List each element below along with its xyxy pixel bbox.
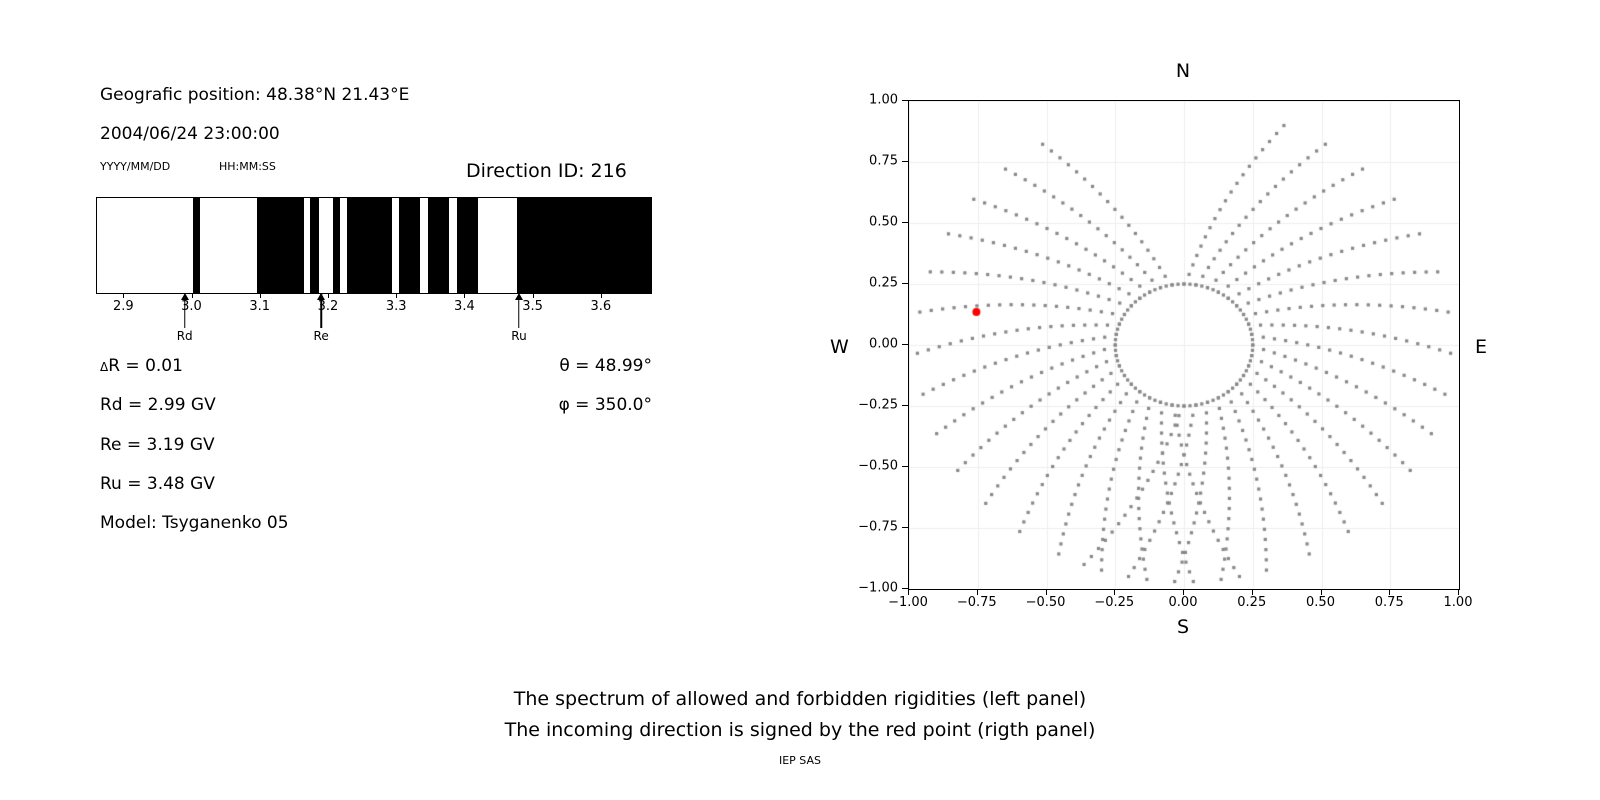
forbidden-band (193, 198, 201, 293)
time-format-hint: HH:MM:SS (219, 161, 276, 172)
y-axis-tick-label: 1.00 (869, 94, 898, 107)
rigidity-spectrum-panel: Geografic position: 48.38°N 21.43°E 2004… (0, 0, 760, 660)
arrow-up-icon (181, 293, 189, 300)
rigidity-marker-label: Rd (177, 330, 193, 342)
direction-id-text: Direction ID: 216 (466, 162, 627, 181)
forbidden-band (257, 198, 304, 293)
x-axis-tick-mark (1114, 589, 1115, 595)
spectrum-bar-container (96, 197, 652, 296)
y-axis-tick-label: 0.25 (869, 277, 898, 290)
x-axis-tick-label: −0.75 (957, 596, 997, 609)
compass-west-label: W (830, 338, 849, 357)
axis-tick (123, 294, 124, 298)
y-axis-tick-label: 0.75 (869, 155, 898, 168)
x-axis-tick-mark (1458, 589, 1459, 595)
x-axis-tick-label: −0.50 (1026, 596, 1066, 609)
x-axis-tick-mark (1321, 589, 1322, 595)
rigidity-marker-label: Re (314, 330, 329, 342)
forbidden-band (517, 198, 652, 293)
delta-symbol: Δ (100, 360, 108, 374)
arrow-up-icon (515, 293, 523, 300)
axis-tick (533, 294, 534, 298)
axis-tick (396, 294, 397, 298)
x-axis-tick-mark (977, 589, 978, 595)
axis-tick-label: 2.9 (113, 300, 134, 313)
y-axis-tick-label: −0.75 (858, 521, 898, 534)
x-axis-tick-mark (1046, 589, 1047, 595)
param-delta-r-value: R = 0.01 (108, 356, 183, 376)
param-phi: φ = 350.0° (559, 397, 652, 414)
y-axis-tick-label: −0.50 (858, 460, 898, 473)
x-axis-tick-label: 1.00 (1444, 596, 1473, 609)
spectrum-bar (96, 197, 652, 294)
footer-attribution: IEP SAS (0, 755, 1600, 766)
forbidden-band (310, 198, 320, 293)
param-rd: Rd = 2.99 GV (100, 397, 216, 414)
axis-tick-label: 3.3 (386, 300, 407, 313)
y-axis-tick-mark (902, 161, 908, 162)
axis-tick-label: 3.4 (454, 300, 475, 313)
y-axis-tick-mark (902, 405, 908, 406)
forbidden-band (457, 198, 478, 293)
y-axis-tick-mark (902, 527, 908, 528)
y-axis-tick-mark (902, 466, 908, 467)
x-axis-tick-mark (1252, 589, 1253, 595)
y-axis-tick-mark (902, 283, 908, 284)
x-axis-tick-label: 0.00 (1169, 596, 1198, 609)
x-axis-tick-label: 0.25 (1237, 596, 1266, 609)
geographic-position-text: Geografic position: 48.38°N 21.43°E (100, 87, 409, 104)
y-axis-tick-mark (902, 222, 908, 223)
x-axis-tick-mark (1389, 589, 1390, 595)
arrow-up-icon (317, 293, 325, 300)
forbidden-band (399, 198, 420, 293)
date-format-hint: YYYY/MM/DD (100, 161, 170, 172)
caption-line-2: The incoming direction is signed by the … (0, 715, 1600, 746)
rigidity-marker-label: Ru (511, 330, 526, 342)
incoming-direction-panel: N S W E −1.00−0.75−0.50−0.250.000.250.50… (840, 40, 1540, 660)
forbidden-band (428, 198, 449, 293)
compass-south-label: S (1177, 618, 1189, 637)
param-ru: Ru = 3.48 GV (100, 476, 215, 493)
axis-tick (464, 294, 465, 298)
axis-tick (192, 294, 193, 298)
y-axis-tick-mark (902, 100, 908, 101)
direction-scatter-plot (908, 100, 1460, 590)
y-axis-tick-label: −0.25 (858, 399, 898, 412)
scatter-canvas (909, 101, 1459, 589)
param-delta-r: ΔR = 0.01 (100, 358, 183, 375)
axis-tick (328, 294, 329, 298)
forbidden-band (333, 198, 340, 293)
axis-tick (260, 294, 261, 298)
axis-tick-label: 3.6 (590, 300, 611, 313)
y-axis-tick-label: 0.50 (869, 216, 898, 229)
forbidden-band (347, 198, 391, 293)
y-axis-tick-label: 0.00 (869, 338, 898, 351)
datetime-text: 2004/06/24 23:00:00 (100, 126, 280, 143)
x-axis-tick-label: 0.75 (1375, 596, 1404, 609)
x-axis-tick-label: 0.50 (1306, 596, 1335, 609)
axis-tick-label: 3.5 (522, 300, 543, 313)
param-theta: θ = 48.99° (559, 358, 652, 375)
compass-east-label: E (1475, 338, 1487, 357)
caption-block: The spectrum of allowed and forbidden ri… (0, 684, 1600, 746)
spectrum-axis: 2.93.03.13.23.33.43.53.6RdReRu (96, 294, 652, 350)
param-model: Model: Tsyganenko 05 (100, 515, 289, 532)
param-re: Re = 3.19 GV (100, 437, 215, 454)
caption-line-1: The spectrum of allowed and forbidden ri… (0, 684, 1600, 715)
x-axis-tick-mark (1183, 589, 1184, 595)
x-axis-tick-mark (908, 589, 909, 595)
y-axis-tick-mark (902, 344, 908, 345)
x-axis-tick-label: −0.25 (1094, 596, 1134, 609)
compass-north-label: N (1176, 62, 1190, 81)
x-axis-tick-label: −1.00 (888, 596, 928, 609)
y-axis-tick-label: −1.00 (858, 582, 898, 595)
axis-tick-label: 3.1 (249, 300, 270, 313)
axis-tick (601, 294, 602, 298)
